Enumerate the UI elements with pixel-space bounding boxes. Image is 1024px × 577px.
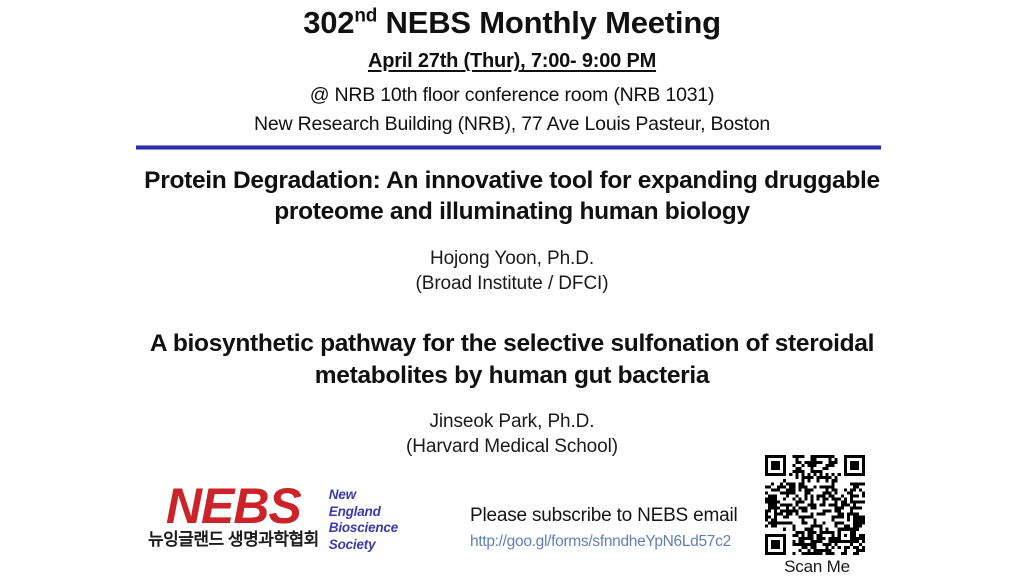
- logo-society-line-3: Bioscience: [329, 520, 398, 537]
- logo-wordmark: NEBS: [166, 483, 301, 529]
- logo-society-line-2: England: [329, 504, 398, 521]
- subscribe-block: Please subscribe to NEBS email http://go…: [470, 505, 738, 551]
- talks-section: Protein Degradation: An innovative tool …: [0, 165, 1024, 460]
- slide-footer: NEBS 뉴잉글랜드 생명과학협회 New England Bioscience…: [0, 450, 1024, 575]
- nebs-logo: NEBS 뉴잉글랜드 생명과학협회 New England Bioscience…: [148, 483, 398, 554]
- meeting-number: 302: [303, 5, 354, 40]
- qr-code-icon[interactable]: [765, 455, 865, 555]
- slide-header: 302nd NEBS Monthly Meeting April 27th (T…: [0, 0, 1024, 137]
- logo-primary: NEBS 뉴잉글랜드 생명과학협회: [148, 483, 319, 550]
- meeting-ordinal-suffix: nd: [354, 6, 377, 27]
- subscribe-link[interactable]: http://goo.gl/forms/sfnndheYpN6Ld57c2: [470, 533, 738, 551]
- header-divider: [136, 145, 881, 152]
- meeting-address: New Research Building (NRB), 77 Ave Loui…: [0, 111, 1024, 137]
- talk-title: Protein Degradation: An innovative tool …: [0, 165, 1024, 228]
- talk-item: A biosynthetic pathway for the selective…: [0, 328, 1024, 459]
- qr-caption: Scan Me: [765, 557, 869, 577]
- speaker-name: Jinseok Park, Ph.D.: [430, 411, 595, 432]
- speaker-name: Hojong Yoon, Ph.D.: [430, 248, 594, 269]
- page-title: 302nd NEBS Monthly Meeting: [0, 6, 1024, 39]
- qr-block: Scan Me: [765, 455, 869, 577]
- subscribe-label: Please subscribe to NEBS email: [470, 505, 738, 527]
- presentation-slide: 302nd NEBS Monthly Meeting April 27th (T…: [0, 0, 1024, 575]
- meeting-datetime: April 27th (Thur), 7:00- 9:00 PM: [0, 50, 1024, 73]
- meeting-room: @ NRB 10th floor conference room (NRB 10…: [0, 82, 1024, 108]
- logo-society-name: New England Bioscience Society: [329, 487, 398, 554]
- divider-line: [136, 145, 881, 150]
- logo-society-line-1: New: [329, 487, 398, 504]
- logo-korean-name: 뉴잉글랜드 생명과학협회: [148, 531, 319, 550]
- talk-item: Protein Degradation: An innovative tool …: [0, 165, 1024, 296]
- talk-speaker: Hojong Yoon, Ph.D. (Broad Institute / DF…: [0, 246, 1024, 297]
- logo-society-line-4: Society: [329, 537, 398, 554]
- speaker-affiliation: (Broad Institute / DFCI): [0, 271, 1024, 296]
- meeting-title-rest: NEBS Monthly Meeting: [377, 5, 721, 40]
- talk-title: A biosynthetic pathway for the selective…: [0, 328, 1024, 391]
